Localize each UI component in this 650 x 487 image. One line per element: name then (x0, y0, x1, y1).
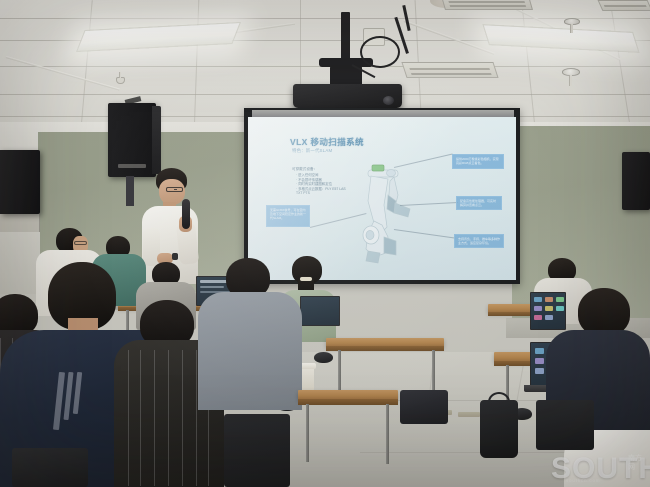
speaker-side-panel (152, 106, 161, 174)
slide-title: VLX 移动扫描系统 (290, 136, 364, 148)
vlx-scanner-illustration (344, 161, 422, 265)
speaker-stand-pole (126, 176, 134, 206)
air-vent-far-right (598, 0, 650, 11)
air-vent-right-top (441, 0, 533, 10)
laptop-right-1[interactable] (530, 292, 566, 330)
callout-bottom-right: 支持背负、手持、推车等多种作业方式，适应复杂环境。 (454, 234, 504, 248)
attendee-gray-shirt (198, 292, 302, 410)
classroom-photo: VLX 移动扫描系统 特色：新一代SLAM 可穿戴式设备： 进入任何空间 不会损… (0, 0, 650, 487)
glasses-bridge (174, 189, 177, 190)
sprinkler-stem (119, 72, 121, 78)
projector-cable-loop (360, 36, 400, 68)
watermark-cn-line2: 网 (628, 464, 635, 472)
smoke-detector-stem-2 (569, 75, 572, 86)
chair-right (536, 400, 594, 450)
projector-mount-pole (341, 12, 350, 62)
projection-screen-surface: VLX 移动扫描系统 特色：新一代SLAM 可穿戴式设备： 进入任何空间 不会损… (248, 117, 516, 280)
wristwatch (172, 253, 178, 260)
computer-mouse-2[interactable] (314, 352, 333, 363)
speaker-brand-plate (118, 164, 146, 168)
chair-front-left (12, 448, 88, 487)
wall-monitor-right (622, 152, 650, 210)
sprinkler-head (116, 77, 125, 84)
laptop-back-center[interactable] (300, 296, 340, 326)
hair-tie (300, 277, 312, 281)
desk-leg (386, 404, 389, 464)
callout-left: 无需GNSS信号，可在室内及地下空间稳定作业的新一代SLAM。 (266, 205, 310, 227)
slide-bullets-heading: 可穿戴式设备： (292, 167, 317, 172)
callout-top-right: 提供2000万像素彩色相机，实现真彩RGB点云着色。 (452, 154, 504, 169)
wall-lower-left (0, 232, 40, 294)
chair-mid-back (400, 390, 448, 424)
backpack (480, 400, 518, 458)
attendee-glasses-icon (74, 241, 87, 245)
air-vent-right-lower (401, 62, 498, 78)
slide-subtitle: 特色：新一代SLAM (292, 148, 332, 154)
projector-lens (383, 96, 394, 105)
slide-bullet: 多格式点云数据：PLY E57 LAS TXT PTS (296, 187, 348, 196)
smoke-detector-stem (570, 24, 573, 33)
desk-edge (298, 399, 398, 405)
floor-inlay (458, 412, 480, 417)
callout-mid-right: 配备高性能处理器，可实时解算并查看点云。 (456, 196, 502, 210)
desk-edge (326, 346, 444, 351)
projection-screen-roller (252, 110, 514, 117)
watermark-cn-sub: southcn.com (566, 478, 600, 483)
wall-monitor-left (0, 150, 40, 214)
attendee-hair (578, 288, 630, 336)
desk-leg (306, 404, 309, 462)
watermark-cn-line1: 南方 (628, 455, 642, 463)
microphone (182, 199, 190, 229)
chair-mid (224, 414, 290, 487)
slide-bullet-list: 进入任何空间 不会损坏传感器 同时有实时建图和定位 多格式点云数据：PLY E5… (296, 173, 348, 196)
